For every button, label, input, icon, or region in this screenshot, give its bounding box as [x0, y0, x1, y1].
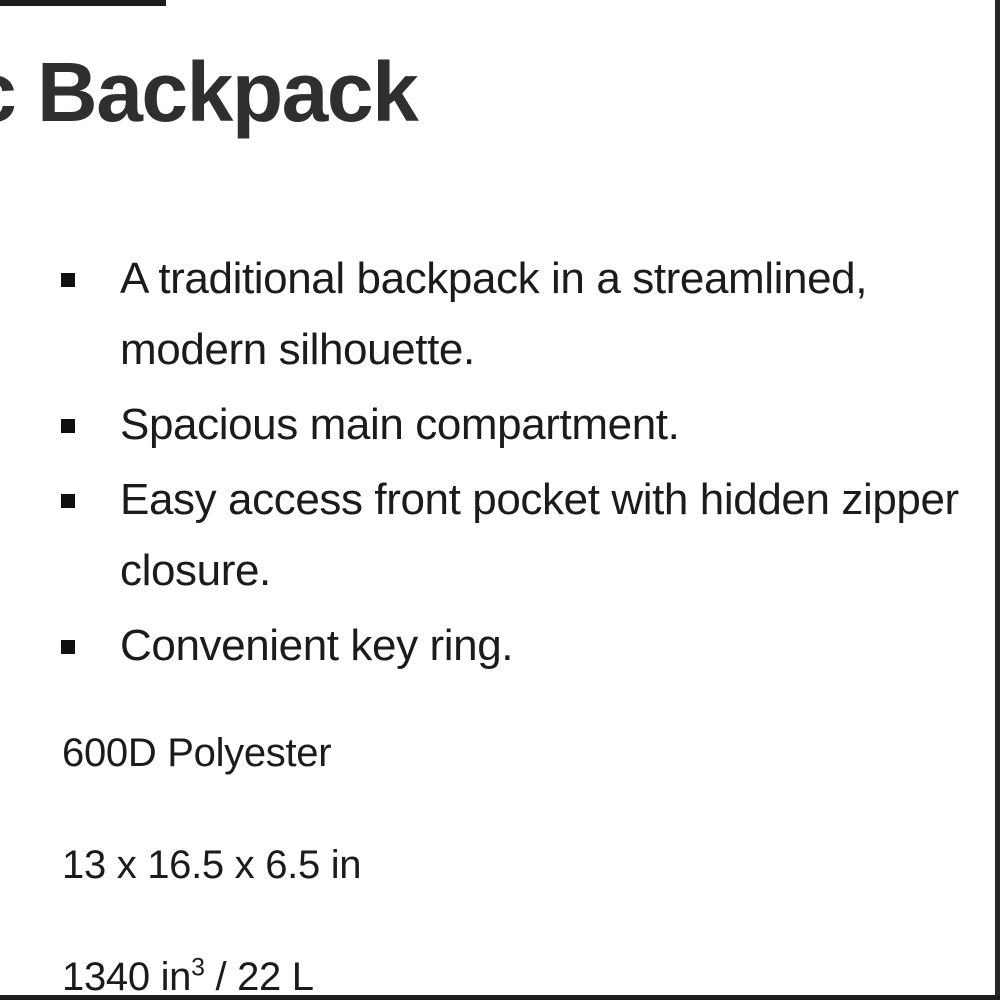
product-description-panel: c Backpack A traditional backpack in a s… [0, 0, 1000, 1000]
list-item: A traditional backpack in a streamlined,… [56, 243, 986, 385]
page-top-edge-bar [0, 0, 166, 6]
feature-text: Spacious main compartment. [120, 400, 679, 449]
list-item: Convenient key ring. [56, 610, 986, 681]
square-bullet-icon [61, 640, 75, 654]
feature-text: Easy access front pocket with hidden zip… [120, 475, 959, 595]
feature-text: Convenient key ring. [120, 621, 513, 670]
spec-dimensions: 13 x 16.5 x 6.5 in [62, 838, 962, 892]
list-item: Easy access front pocket with hidden zip… [56, 464, 986, 606]
spec-volume-metric: / 22 L [205, 955, 314, 999]
feature-text: A traditional backpack in a streamlined,… [120, 254, 867, 374]
spec-material: 600D Polyester [62, 726, 962, 780]
square-bullet-icon [61, 494, 75, 508]
spec-volume: 1340 in3 / 22 L [62, 950, 962, 1000]
square-bullet-icon [61, 419, 75, 433]
square-bullet-icon [61, 273, 75, 287]
feature-list: A traditional backpack in a streamlined,… [56, 243, 986, 685]
spec-volume-value: 1340 in [62, 955, 191, 999]
spec-volume-exponent: 3 [191, 955, 205, 982]
page-title: c Backpack [0, 48, 970, 136]
specifications-block: 600D Polyester 13 x 16.5 x 6.5 in 1340 i… [62, 726, 962, 1000]
page-right-edge-border [995, 0, 1000, 1000]
list-item: Spacious main compartment. [56, 389, 986, 460]
